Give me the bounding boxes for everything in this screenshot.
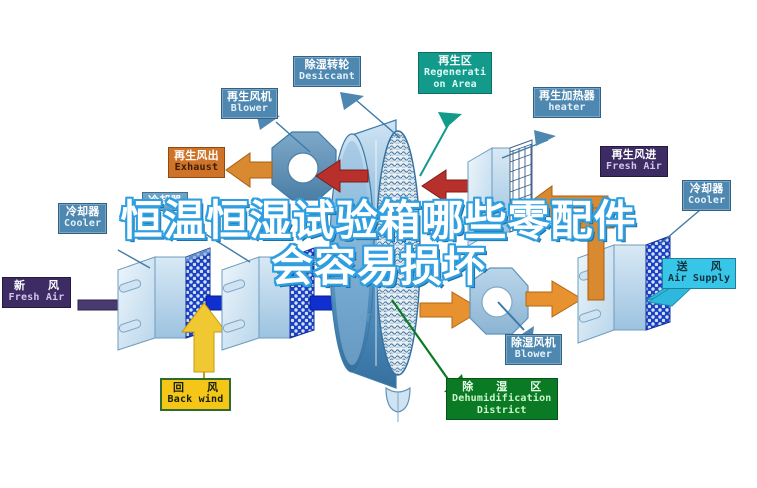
label-dehum-blower-en: Blower bbox=[511, 350, 556, 361]
label-regen-heater-en: heater bbox=[539, 103, 595, 114]
diagram-canvas: XT bbox=[0, 0, 757, 488]
schematic-illustration: XT bbox=[0, 0, 757, 488]
label-regen-area-en2: on Area bbox=[424, 80, 486, 91]
label-cooler-mid-cn: 冷却器 bbox=[148, 195, 182, 207]
label-fresh-air-cn: 新 风 bbox=[8, 280, 65, 292]
label-regeneration-heater[interactable]: 再生加热器 heater bbox=[533, 87, 601, 118]
label-dehumidification-blower[interactable]: 除湿风机 Blower bbox=[505, 334, 562, 365]
regeneration-heater bbox=[468, 140, 532, 246]
label-regeneration-blower[interactable]: 再生风机 Blower bbox=[221, 88, 278, 119]
label-dehum-district-en2: District bbox=[452, 406, 552, 417]
label-exhaust-en: Exhaust bbox=[174, 163, 219, 174]
label-cooler-right-en: Cooler bbox=[688, 196, 725, 207]
label-desiccant-en: Desiccant bbox=[299, 72, 355, 83]
regen-fresh-air-arrows bbox=[530, 186, 614, 300]
label-dehumidification-district[interactable]: 除 湿 区 Dehumidification District bbox=[446, 378, 558, 420]
label-exhaust-cn: 再生风出 bbox=[174, 150, 219, 162]
label-air-supply-cn: 送 风 bbox=[668, 261, 730, 273]
label-exhaust[interactable]: 再生风出 Exhaust bbox=[168, 147, 225, 178]
regen-hot-arrow-right bbox=[422, 170, 470, 202]
label-desiccant-cn: 除湿转轮 bbox=[299, 59, 355, 71]
label-regen-area-cn: 再生区 bbox=[424, 55, 486, 67]
exhaust-arrow bbox=[226, 153, 272, 187]
label-back-wind[interactable]: 回 风 Back wind bbox=[160, 378, 231, 411]
label-cooler-mid[interactable]: 冷却器 bbox=[142, 192, 188, 211]
label-regen-blower-cn: 再生风机 bbox=[227, 91, 272, 103]
label-cooler-left-en: Cooler bbox=[64, 219, 101, 230]
label-back-wind-en: Back wind bbox=[167, 395, 224, 406]
label-cooler-left[interactable]: 冷却器 Cooler bbox=[58, 203, 107, 234]
label-regen-fresh-air[interactable]: 再生风进 Fresh Air bbox=[600, 146, 668, 177]
label-regen-blower-en: Blower bbox=[227, 104, 272, 115]
label-desiccant[interactable]: 除湿转轮 Desiccant bbox=[293, 56, 361, 87]
label-regen-fresh-air-cn: 再生风进 bbox=[606, 149, 662, 161]
label-regen-area-en1: Regenerati bbox=[424, 68, 486, 79]
label-dehum-blower-cn: 除湿风机 bbox=[511, 337, 556, 349]
label-dehum-district-en1: Dehumidification bbox=[452, 394, 552, 405]
label-fresh-air-en: Fresh Air bbox=[8, 293, 65, 304]
desiccant-rotor: XT bbox=[330, 120, 420, 388]
regeneration-blower bbox=[272, 132, 336, 200]
label-air-supply-en: Air Supply bbox=[668, 274, 730, 285]
svg-text:XT: XT bbox=[358, 312, 372, 325]
rotor-drain-element bbox=[386, 388, 410, 422]
cooler-unit-2 bbox=[222, 248, 314, 350]
label-fresh-air[interactable]: 新 风 Fresh Air bbox=[2, 277, 71, 308]
label-regen-fresh-air-en: Fresh Air bbox=[606, 162, 662, 173]
label-air-supply[interactable]: 送 风 Air Supply bbox=[662, 258, 736, 289]
label-regen-heater-cn: 再生加热器 bbox=[539, 90, 595, 102]
label-regeneration-area[interactable]: 再生区 Regenerati on Area bbox=[418, 52, 492, 94]
supply-transfer-arrow bbox=[526, 281, 582, 317]
label-cooler-left-cn: 冷却器 bbox=[64, 206, 101, 218]
label-back-wind-cn: 回 风 bbox=[167, 382, 224, 394]
label-dehum-district-cn: 除 湿 区 bbox=[452, 381, 552, 393]
label-cooler-right[interactable]: 冷却器 Cooler bbox=[682, 180, 731, 211]
label-cooler-right-cn: 冷却器 bbox=[688, 183, 725, 195]
